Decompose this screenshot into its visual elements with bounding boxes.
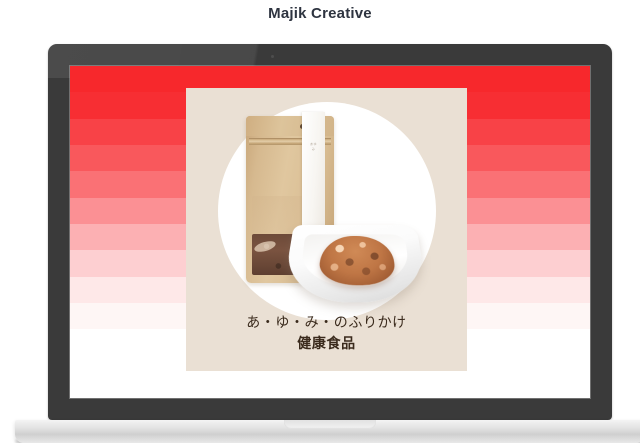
- laptop-screen: あゆみ あ・ゆ・み・のふりかけ 健康食品: [70, 66, 590, 398]
- dish-plate: [281, 225, 429, 302]
- product-caption: あ・ゆ・み・のふりかけ 健康食品: [186, 313, 467, 355]
- dish-image: [288, 218, 422, 310]
- laptop-mockup: あゆみ あ・ゆ・み・のふりかけ 健康食品: [48, 44, 612, 420]
- pouch-label-text: あゆみ: [309, 142, 319, 152]
- caption-product-category: 健康食品: [186, 334, 467, 355]
- caption-product-name: あ・ゆ・み・のふりかけ: [186, 313, 467, 334]
- laptop-lid: あゆみ あ・ゆ・み・のふりかけ 健康食品: [48, 44, 612, 420]
- laptop-base-notch: [284, 420, 376, 429]
- product-card[interactable]: あゆみ あ・ゆ・み・のふりかけ 健康食品: [186, 88, 467, 371]
- laptop-base: [15, 420, 640, 443]
- page-title: Majik Creative: [0, 4, 640, 24]
- page-root: Majik Creative: [0, 0, 640, 443]
- camera-icon: [271, 55, 274, 58]
